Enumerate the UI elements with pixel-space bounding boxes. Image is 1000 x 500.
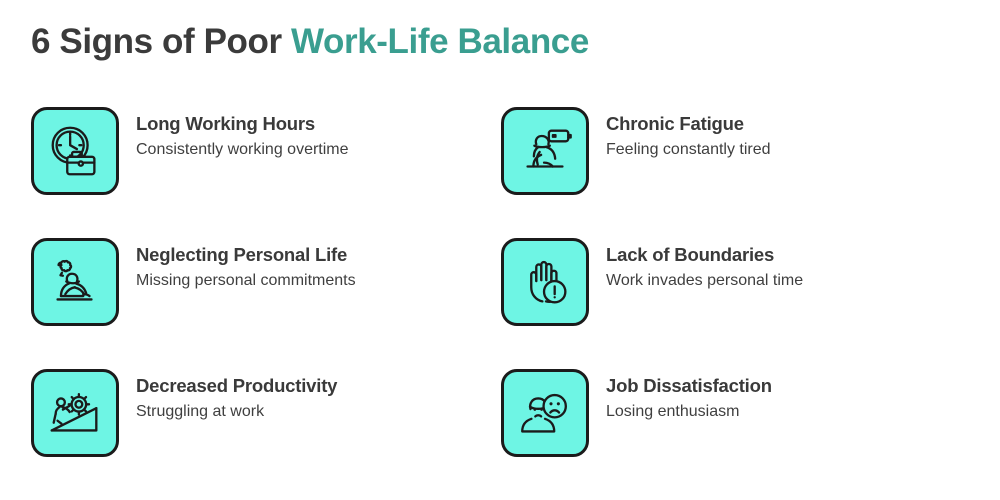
sign-item-neglecting-personal-life: Neglecting Personal Life Missing persona… <box>31 238 471 326</box>
sign-description: Struggling at work <box>136 401 337 423</box>
sign-item-job-dissatisfaction: Job Dissatisfaction Losing enthusiasm <box>501 369 961 457</box>
sign-text-block: Neglecting Personal Life Missing persona… <box>136 238 356 292</box>
person-pushing-gear-uphill-icon <box>31 369 119 457</box>
stop-hand-warning-icon <box>501 238 589 326</box>
sign-text-block: Lack of Boundaries Work invades personal… <box>606 238 803 292</box>
sign-title: Long Working Hours <box>136 112 349 136</box>
sad-sitting-person-icon <box>31 238 119 326</box>
unhappy-person-sad-face-icon <box>501 369 589 457</box>
sign-title: Decreased Productivity <box>136 374 337 398</box>
sign-text-block: Job Dissatisfaction Losing enthusiasm <box>606 369 772 423</box>
sign-title: Neglecting Personal Life <box>136 243 356 267</box>
page-title: 6 Signs of Poor Work-Life Balance <box>31 20 589 64</box>
sign-title: Lack of Boundaries <box>606 243 803 267</box>
sign-text-block: Chronic Fatigue Feeling constantly tired <box>606 107 771 161</box>
tired-person-battery-icon <box>501 107 589 195</box>
sign-item-lack-of-boundaries: Lack of Boundaries Work invades personal… <box>501 238 961 326</box>
sign-description: Losing enthusiasm <box>606 401 772 423</box>
sign-text-block: Decreased Productivity Struggling at wor… <box>136 369 337 423</box>
sign-description: Feeling constantly tired <box>606 139 771 161</box>
clock-briefcase-icon <box>31 107 119 195</box>
sign-title: Chronic Fatigue <box>606 112 771 136</box>
sign-item-long-working-hours: Long Working Hours Consistently working … <box>31 107 471 195</box>
sign-title: Job Dissatisfaction <box>606 374 772 398</box>
sign-item-decreased-productivity: Decreased Productivity Struggling at wor… <box>31 369 471 457</box>
page-title-accent: Work-Life Balance <box>291 22 589 61</box>
sign-item-chronic-fatigue: Chronic Fatigue Feeling constantly tired <box>501 107 961 195</box>
sign-description: Work invades personal time <box>606 270 803 292</box>
infographic-page: 6 Signs of Poor Work-Life Balance Lo <box>0 0 1000 500</box>
sign-text-block: Long Working Hours Consistently working … <box>136 107 349 161</box>
page-title-plain: 6 Signs of Poor <box>31 22 291 61</box>
sign-description: Consistently working overtime <box>136 139 349 161</box>
sign-description: Missing personal commitments <box>136 270 356 292</box>
